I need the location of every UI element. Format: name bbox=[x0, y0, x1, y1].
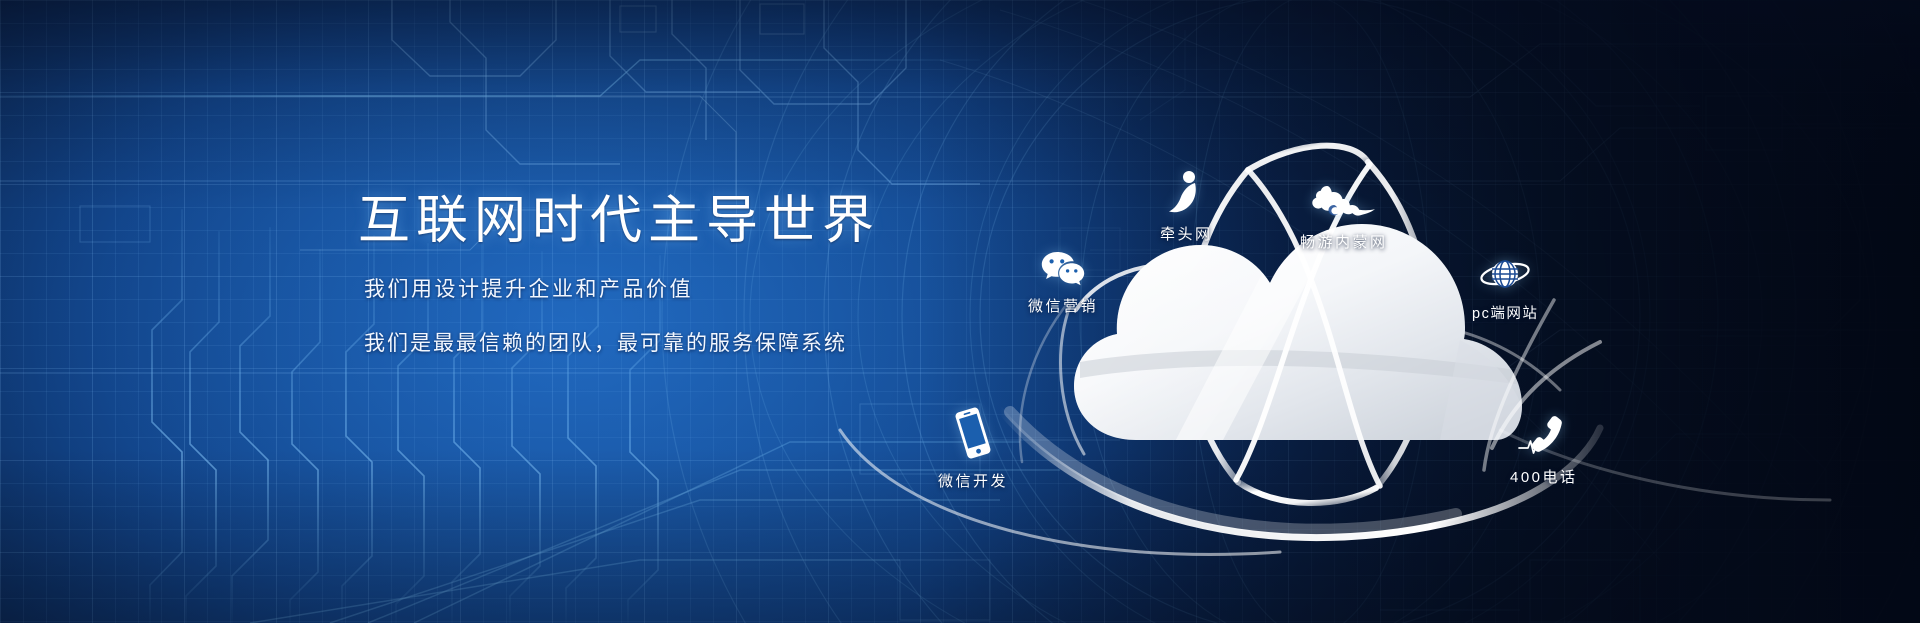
phone-handset-icon bbox=[1515, 415, 1573, 457]
subtitle-one: 我们用设计提升企业和产品价值 bbox=[364, 273, 880, 303]
page-title: 互联网时代主导世界 bbox=[358, 195, 880, 247]
feature-node-hotline-400[interactable]: 400电话 bbox=[1510, 415, 1578, 487]
feature-label-wechat-marketing: 微信营销 bbox=[1028, 295, 1098, 316]
wechat-icon bbox=[1040, 250, 1086, 286]
feature-label-hotline-400: 400电话 bbox=[1510, 466, 1578, 487]
hero-text-block: 互联网时代主导世界 我们用设计提升企业和产品价值 我们是最最信赖的团队，最可靠的… bbox=[358, 195, 880, 357]
globe-orbit-icon bbox=[1476, 255, 1534, 293]
orbit-trail-arcs bbox=[0, 0, 1920, 623]
feature-label-changyou-neimeng: 畅游内蒙网 bbox=[1300, 231, 1388, 252]
hero-banner: 互联网时代主导世界 我们用设计提升企业和产品价值 我们是最最信赖的团队，最可靠的… bbox=[0, 0, 1920, 623]
person-figure-icon bbox=[1169, 170, 1203, 214]
subtitle-two: 我们是最最信赖的团队，最可靠的服务保障系统 bbox=[364, 327, 880, 357]
auspicious-cloud-icon bbox=[1307, 180, 1381, 222]
feature-node-qiantou-net[interactable]: 牵头网 bbox=[1160, 170, 1213, 244]
feature-node-wechat-dev[interactable]: 微信开发 bbox=[938, 405, 1008, 491]
feature-label-pc-website: pc端网站 bbox=[1472, 302, 1538, 323]
feature-label-qiantou-net: 牵头网 bbox=[1160, 223, 1213, 244]
smartphone-icon bbox=[950, 405, 996, 461]
feature-node-pc-website[interactable]: pc端网站 bbox=[1472, 255, 1538, 323]
feature-node-wechat-marketing[interactable]: 微信营销 bbox=[1028, 250, 1098, 316]
feature-node-changyou-neimeng[interactable]: 畅游内蒙网 bbox=[1300, 180, 1388, 252]
feature-label-wechat-dev: 微信开发 bbox=[938, 470, 1008, 491]
